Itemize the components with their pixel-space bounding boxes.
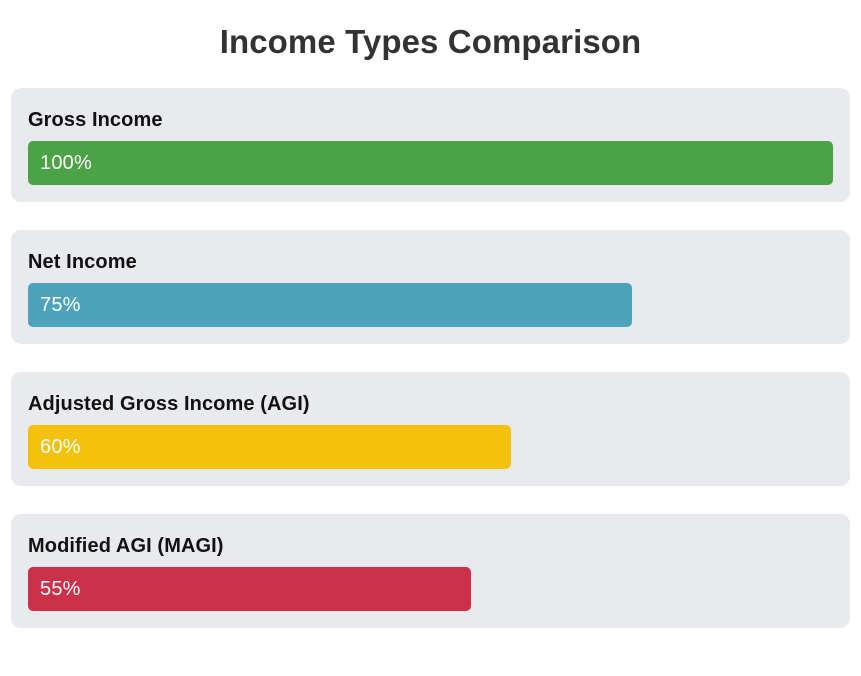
bar-fill: 100% — [28, 141, 833, 185]
bar-track: 60% — [28, 425, 833, 469]
bar-track: 75% — [28, 283, 833, 327]
bar-track: 55% — [28, 567, 833, 611]
page-root: Income Types Comparison Gross Income 100… — [0, 0, 861, 676]
bar-fill: 55% — [28, 567, 471, 611]
income-card-modified-agi: Modified AGI (MAGI) 55% — [11, 514, 850, 628]
bar-value-label: 100% — [40, 153, 92, 173]
income-card-adjusted-gross-income: Adjusted Gross Income (AGI) 60% — [11, 372, 850, 486]
bar-fill: 75% — [28, 283, 632, 327]
income-card-label: Adjusted Gross Income (AGI) — [28, 393, 833, 416]
income-card-gross-income: Gross Income 100% — [11, 88, 850, 202]
income-card-net-income: Net Income 75% — [11, 230, 850, 344]
income-card-label: Gross Income — [28, 109, 833, 132]
income-card-label: Modified AGI (MAGI) — [28, 535, 833, 558]
page-title: Income Types Comparison — [0, 0, 861, 58]
bar-value-label: 55% — [40, 579, 81, 599]
bar-fill: 60% — [28, 425, 511, 469]
bar-track: 100% — [28, 141, 833, 185]
bar-value-label: 75% — [40, 295, 81, 315]
income-card-list: Gross Income 100% Net Income 75% Adjuste… — [0, 88, 861, 628]
bar-value-label: 60% — [40, 437, 81, 457]
income-card-label: Net Income — [28, 251, 833, 274]
